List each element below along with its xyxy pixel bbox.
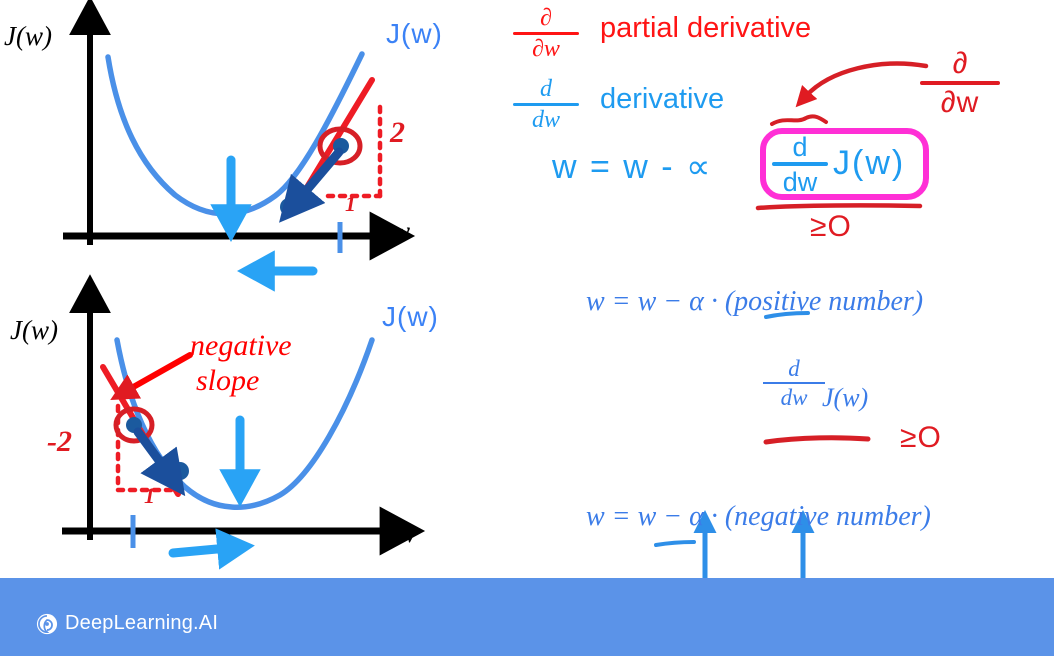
bottom-run-label: 1 <box>144 485 155 507</box>
top-x-axis-label: w <box>392 218 410 245</box>
deeplearning-spiral-logo-icon <box>36 613 58 635</box>
bottom-rise-label: -2 <box>47 427 72 457</box>
negative-update-equation: w = w − α · (negative number) <box>586 503 931 531</box>
partial-callout-numerator: ∂ <box>920 48 1000 80</box>
brand-lockup: DeepLearning.AI <box>36 612 218 635</box>
derivative-sign-label: ≥O <box>900 423 942 453</box>
bottom-x-axis-label: w <box>398 520 416 547</box>
top-next-point <box>280 198 298 216</box>
greater-equal-zero-under-box: ≥O <box>810 212 852 242</box>
top-curve-label: J(w) <box>386 20 443 48</box>
total-denominator: dw <box>513 108 579 133</box>
red-underline-derivative <box>766 438 868 442</box>
partial-denominator: ∂w <box>513 37 579 62</box>
partial-callout-fraction: ∂ ∂w <box>920 48 1000 118</box>
derivative-expression-denominator: dw <box>763 386 825 409</box>
slide-canvas: J(w) w J(w) 2 1 J(w) w J(w) negative slo… <box>0 0 1054 656</box>
derivative-expression-function: J(w) <box>822 385 868 411</box>
partial-callout-arrow <box>806 64 926 96</box>
total-numerator: d <box>513 77 579 102</box>
bottom-y-axis-label: J(w) <box>10 317 58 344</box>
red-brace-top <box>772 116 826 124</box>
positive-update-equation: w = w − α · (positive number) <box>586 288 923 316</box>
derivative-label: derivative <box>600 85 724 114</box>
brand-name: DeepLearning.AI <box>65 612 218 635</box>
partial-derivative-label: partial derivative <box>600 14 811 43</box>
top-y-axis-label: J(w) <box>4 23 52 50</box>
w-underline-negative <box>656 542 694 545</box>
boxed-derivative-numerator: d <box>772 133 828 161</box>
top-rise-label: 2 <box>390 118 405 148</box>
negative-slope-annotation-line2: slope <box>196 365 259 397</box>
bottom-step-arrow <box>138 432 166 470</box>
derivative-expression-numerator: d <box>763 357 825 380</box>
partial-numerator: ∂ <box>513 6 579 31</box>
chart-top <box>63 22 385 271</box>
boxed-function-label: J(w) <box>833 146 905 180</box>
update-rule-handwritten: w = w - ∝ <box>552 150 712 184</box>
partial-callout-denominator: ∂w <box>920 87 1000 119</box>
boxed-derivative-denominator: dw <box>772 168 828 196</box>
negative-slope-annotation-line1: negative <box>190 330 292 362</box>
bottom-next-point <box>171 462 189 480</box>
boxed-derivative-fraction: d dw <box>772 133 828 197</box>
red-underline-box <box>758 205 920 208</box>
negative-slope-callout-arrow <box>128 355 190 390</box>
bottom-direction-arrow-right <box>173 548 228 553</box>
partial-derivative-fraction: ∂ ∂w <box>513 6 579 62</box>
top-run-label: 1 <box>345 193 356 215</box>
total-derivative-fraction: d dw <box>513 77 579 133</box>
derivative-expression-fraction: d dw <box>763 357 825 409</box>
bottom-curve-label: J(w) <box>382 303 439 331</box>
